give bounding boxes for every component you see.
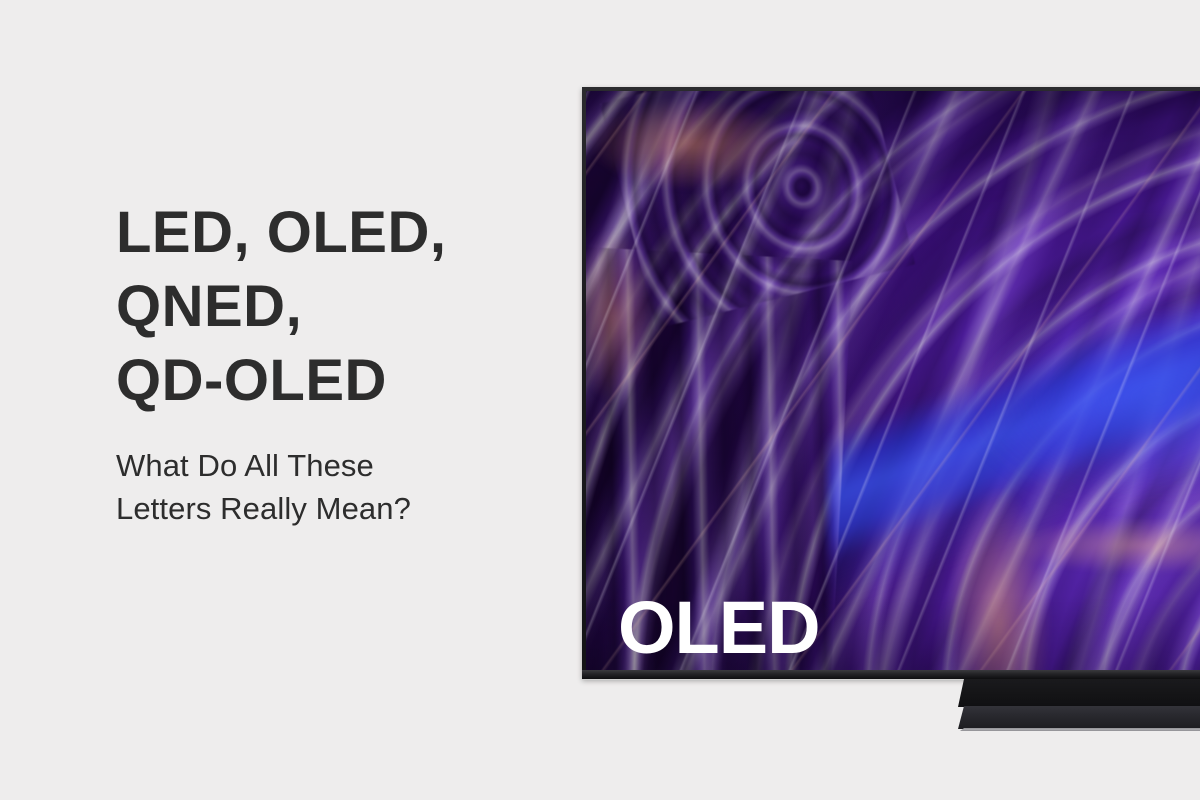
tv-stand-top-face xyxy=(958,679,1200,707)
oled-wordmark: OLED xyxy=(618,591,820,665)
tv-stand xyxy=(958,679,1200,735)
tv-bezel: OLED xyxy=(582,87,1200,679)
tv-screen: OLED xyxy=(586,91,1200,670)
hero-banner: LED, OLED, QNED, QD-OLED What Do All The… xyxy=(0,0,1200,800)
page-title: LED, OLED, QNED, QD-OLED xyxy=(116,196,536,418)
artwork-vignette xyxy=(586,91,1200,670)
tv-stand-lip xyxy=(960,728,1200,731)
tv-stand-front-face xyxy=(958,706,1200,729)
page-subtitle: What Do All These Letters Really Mean? xyxy=(116,418,536,530)
television-product-image: OLED xyxy=(582,87,1200,679)
hero-copy-block: LED, OLED, QNED, QD-OLED What Do All The… xyxy=(116,196,536,530)
